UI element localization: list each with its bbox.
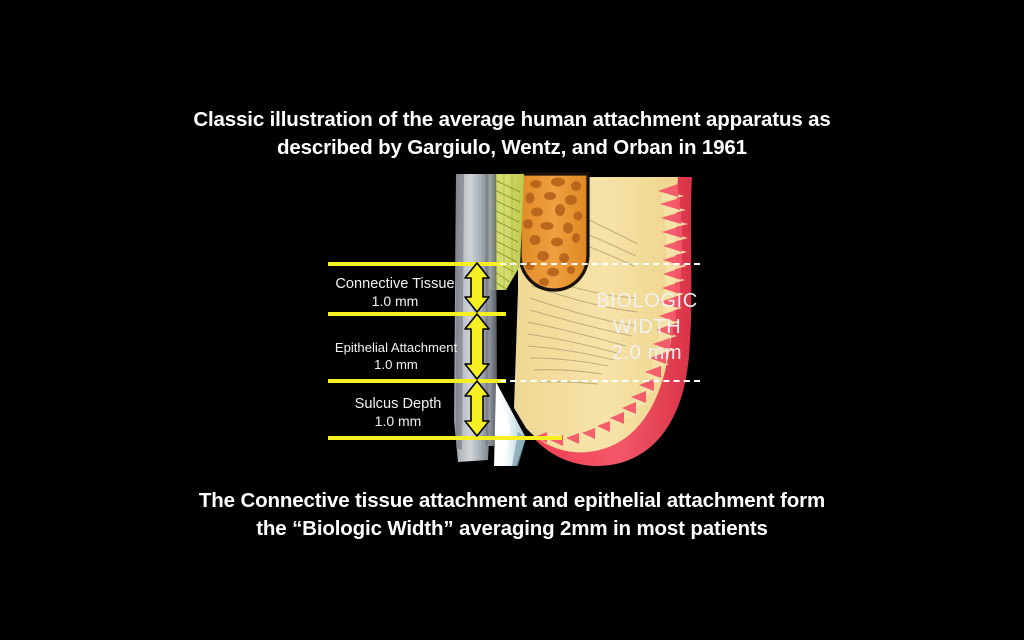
title-line-2: described by Gargiulo, Wentz, and Orban … — [0, 134, 1024, 162]
anatomical-illustration — [440, 170, 720, 470]
page-title: Classic illustration of the average huma… — [0, 106, 1024, 162]
slide-canvas: Classic illustration of the average huma… — [0, 0, 1024, 640]
alveolar-bone-group — [520, 174, 588, 290]
tooth-group — [454, 174, 497, 462]
caption-line-1: The Connective tissue attachment and epi… — [199, 489, 825, 512]
title-line-1: Classic illustration of the average huma… — [193, 108, 830, 131]
page-caption: The Connective tissue attachment and epi… — [0, 487, 1024, 543]
caption-line-2: the “Biologic Width” averaging 2mm in mo… — [0, 515, 1024, 543]
